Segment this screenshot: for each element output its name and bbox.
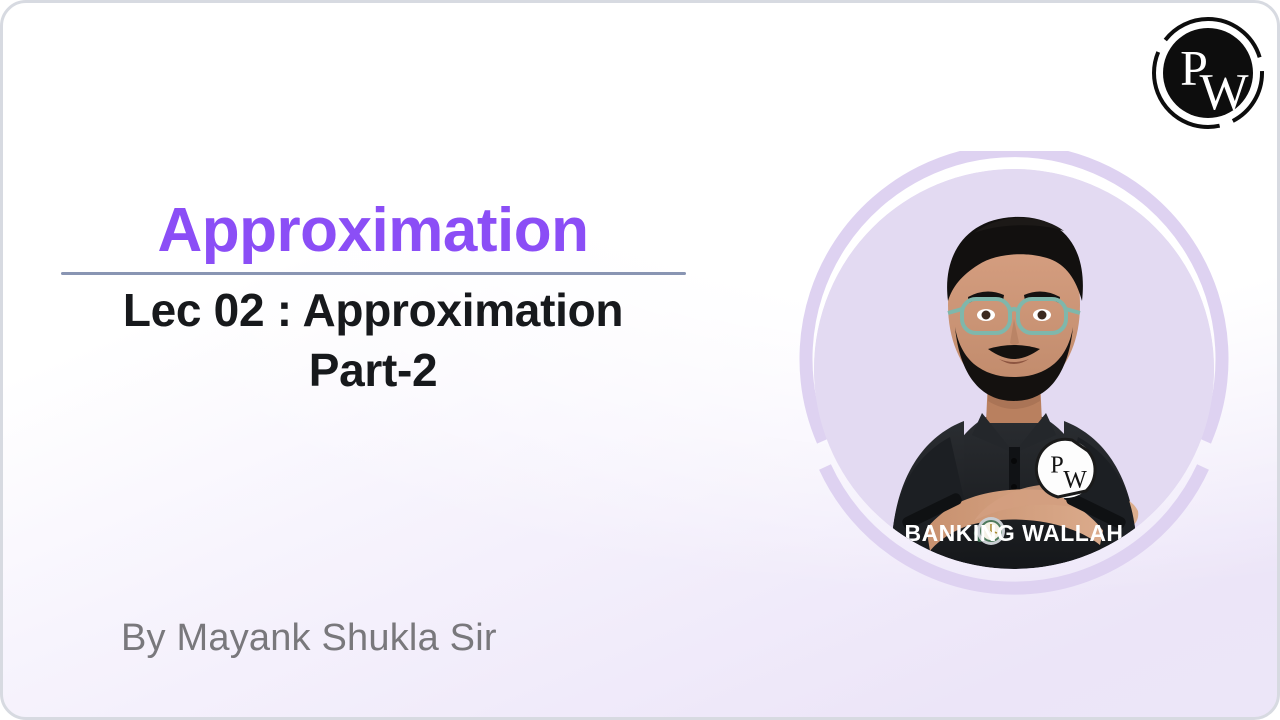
instructor-photo: P W BANKING WALLAH bbox=[814, 169, 1214, 569]
slide-heading-block: Approximation Lec 02 : Approximation Par… bbox=[43, 199, 703, 401]
course-title: Approximation bbox=[43, 199, 703, 268]
title-underline-divider bbox=[61, 272, 686, 275]
shirt-pw-badge: P W bbox=[1036, 439, 1095, 498]
pw-logo: P W bbox=[1150, 15, 1266, 131]
svg-text:W: W bbox=[1063, 467, 1087, 494]
pw-logo-icon: P W bbox=[1150, 15, 1266, 131]
shirt-text: BANKING WALLAH bbox=[904, 520, 1123, 546]
portrait-disc: P W BANKING WALLAH bbox=[814, 169, 1214, 569]
presentation-slide: P W Approximation Lec 02 : Approximation… bbox=[0, 0, 1280, 720]
lecture-title-line-2: Part-2 bbox=[309, 344, 438, 396]
lecture-title-line-1: Lec 02 : Approximation bbox=[123, 284, 623, 336]
pw-logo-letter-w: W bbox=[1199, 64, 1248, 121]
presenter-credit: By Mayank Shukla Sir bbox=[121, 617, 497, 660]
svg-text:P: P bbox=[1050, 453, 1063, 479]
instructor-portrait: P W BANKING WALLAH bbox=[789, 151, 1239, 603]
lecture-title: Lec 02 : Approximation Part-2 bbox=[43, 281, 703, 401]
